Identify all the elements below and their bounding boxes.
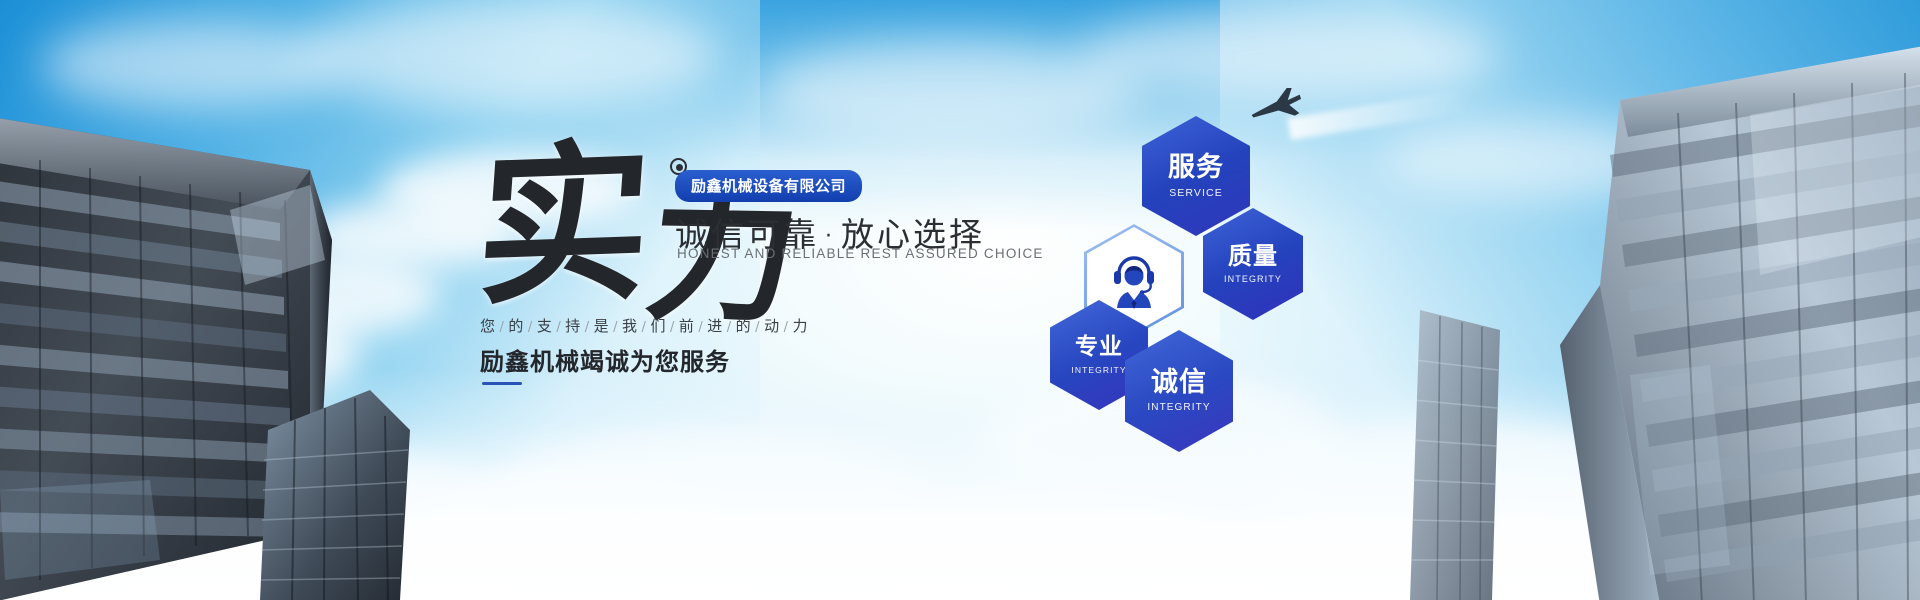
hexagon-trust-label: 诚信 (1151, 369, 1207, 396)
support-char: 您 (480, 317, 496, 335)
support-separator: / (496, 320, 509, 335)
support-separator: / (609, 320, 622, 335)
accent-underline (482, 382, 522, 385)
support-char: 力 (792, 317, 808, 335)
glass-tower-left-small (250, 390, 430, 600)
support-char: 进 (707, 317, 723, 335)
support-char: 持 (565, 317, 581, 335)
headline-block: 实力 励鑫机械设备有限公司 诚信可靠·放心选择 HONEST AND RELIA… (470, 120, 1030, 400)
hexagon-trust-sublabel: INTEGRITY (1147, 402, 1210, 413)
hexagon-professional-sublabel: INTEGRITY (1071, 365, 1126, 375)
support-separator: / (581, 320, 594, 335)
support-char: 的 (736, 317, 752, 335)
support-separator: / (694, 320, 707, 335)
support-separator: / (552, 320, 565, 335)
support-char: 是 (594, 317, 610, 335)
support-char: 我 (622, 317, 638, 335)
support-char: 支 (537, 317, 553, 335)
support-separator: / (751, 320, 764, 335)
slogan-en: HONEST AND RELIABLE REST ASSURED CHOICE (677, 246, 1044, 261)
hexagon-service-sublabel: SERVICE (1169, 187, 1223, 199)
company-badge: 励鑫机械设备有限公司 (675, 170, 862, 202)
support-separator: / (723, 320, 736, 335)
support-line: 您/的/支/持/是/我/们/前/进/的/动/力 (480, 315, 808, 336)
glass-skyscraper-right (1450, 45, 1920, 600)
support-separator: / (524, 320, 537, 335)
support-separator: / (666, 320, 679, 335)
headset-agent-icon (1107, 251, 1161, 309)
support-char: 前 (679, 317, 695, 335)
support-separator: / (638, 320, 651, 335)
cloud-band-bottom (0, 370, 1920, 600)
glass-skyscraper-left (0, 60, 410, 600)
support-char: 动 (764, 317, 780, 335)
hexagon-service-label: 服务 (1168, 154, 1224, 181)
support-char: 的 (508, 317, 524, 335)
support-separator: / (780, 320, 793, 335)
service-line: 励鑫机械竭诚为您服务 (480, 342, 730, 377)
support-char: 们 (650, 317, 666, 335)
hexagon-quality[interactable]: 质量 INTEGRITY (1203, 208, 1303, 320)
hexagon-service[interactable]: 服务 SERVICE (1142, 116, 1250, 236)
hero-banner: 实力 励鑫机械设备有限公司 诚信可靠·放心选择 HONEST AND RELIA… (0, 0, 1920, 600)
hexagon-cluster: 服务 SERVICE 质量 INTEGRITY (1080, 100, 1380, 460)
hexagon-professional-label: 专业 (1075, 336, 1123, 359)
hexagon-quality-sublabel: INTEGRITY (1224, 274, 1282, 284)
hexagon-quality-label: 质量 (1228, 244, 1278, 268)
headline-char-1: 实 (471, 131, 651, 327)
glass-tower-right-small (1380, 300, 1510, 600)
